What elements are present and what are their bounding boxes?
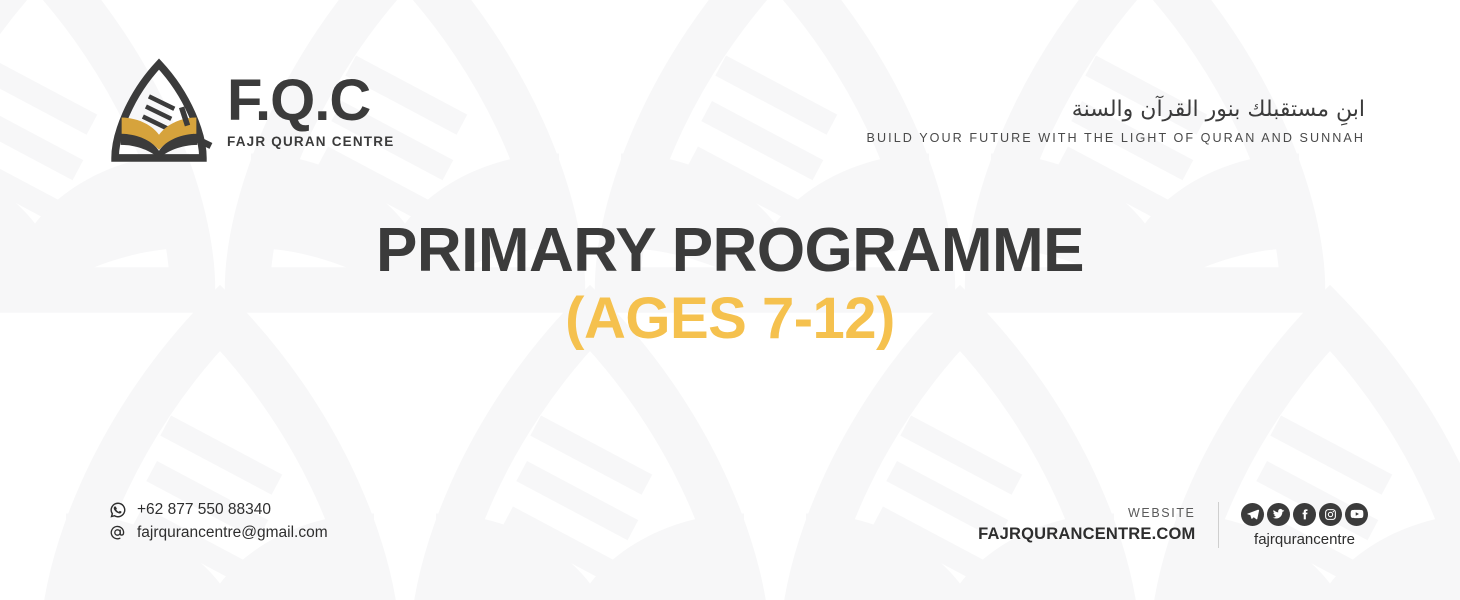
contact-email-row[interactable]: fajrqurancentre@gmail.com [108, 523, 328, 542]
promo-banner: F.Q.C FAJR QURAN CENTRE ابنِ مستقبلك بنو… [0, 0, 1460, 600]
programme-age-range: (AGES 7-12) [0, 287, 1460, 352]
contact-phone-row[interactable]: +62 877 550 88340 [108, 500, 328, 519]
tagline-english: BUILD YOUR FUTURE WITH THE LIGHT OF QURA… [867, 131, 1365, 145]
programme-title: PRIMARY PROGRAMME [0, 218, 1460, 285]
website-label: WEBSITE [978, 506, 1195, 522]
phone-number: +62 877 550 88340 [137, 501, 271, 519]
social-icon-list [1241, 503, 1368, 526]
hero-title-block: PRIMARY PROGRAMME (AGES 7-12) [0, 218, 1460, 352]
brand-name: FAJR QURAN CENTRE [227, 134, 394, 149]
fqc-arch-book-logo-icon [105, 58, 213, 164]
banner-header: F.Q.C FAJR QURAN CENTRE ابنِ مستقبلك بنو… [0, 0, 1460, 190]
telegram-icon[interactable] [1241, 503, 1264, 526]
brand-acronym: F.Q.C [227, 73, 394, 128]
email-address: fajrqurancentre@gmail.com [137, 524, 328, 542]
tagline-arabic: ابنِ مستقبلك بنور القرآن والسنة [867, 95, 1365, 125]
brand-tagline: ابنِ مستقبلك بنور القرآن والسنة BUILD YO… [867, 95, 1365, 145]
footer-links: WEBSITE FAJRQURANCENTRE.COM [978, 502, 1368, 548]
whatsapp-icon [108, 500, 127, 519]
contact-info: +62 877 550 88340 fajrqurancentre@gmail.… [108, 500, 328, 542]
banner-footer: +62 877 550 88340 fajrqurancentre@gmail.… [0, 470, 1460, 600]
brand-logo: F.Q.C FAJR QURAN CENTRE [105, 58, 394, 164]
social-block: fajrqurancentre [1219, 503, 1368, 548]
brand-logo-text: F.Q.C FAJR QURAN CENTRE [227, 73, 394, 149]
at-sign-icon [108, 523, 127, 542]
twitter-icon[interactable] [1267, 503, 1290, 526]
instagram-icon[interactable] [1319, 503, 1342, 526]
website-url[interactable]: FAJRQURANCENTRE.COM [978, 525, 1195, 544]
facebook-icon[interactable] [1293, 503, 1316, 526]
website-block: WEBSITE FAJRQURANCENTRE.COM [978, 506, 1217, 544]
youtube-icon[interactable] [1345, 503, 1368, 526]
social-handle: fajrqurancentre [1241, 531, 1368, 548]
